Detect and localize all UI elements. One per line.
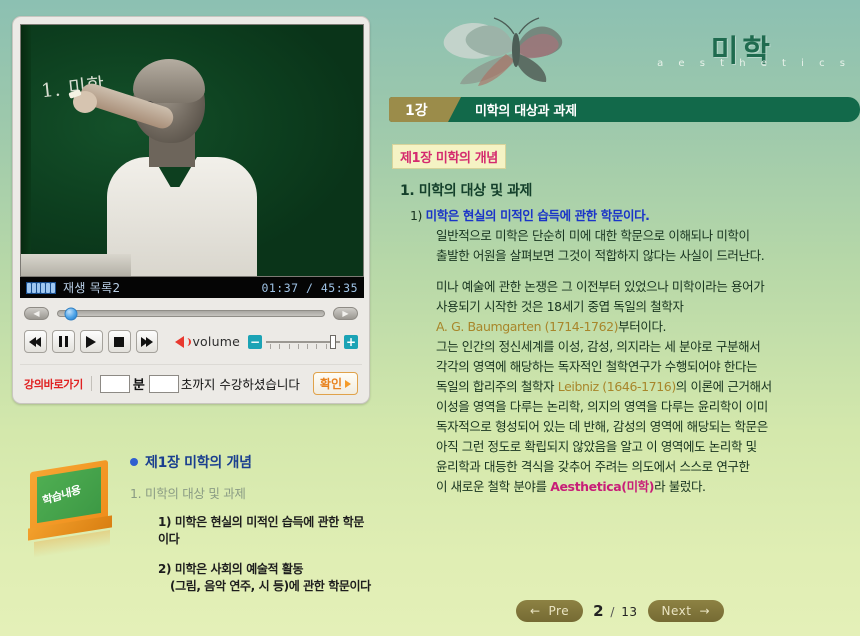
playlist-name: 재생 목록2 — [63, 279, 120, 296]
hero-header: 미학 a e s t h e t i c s — [380, 0, 860, 96]
paragraph4-line4: 윤리학과 대등한 격식을 갖추어 주려는 의도에서 스스로 연구한 — [436, 457, 860, 477]
summary-item-2: 2) 미학은 사회의 예술적 활동 (그림, 음악 연주, 시 등)에 관한 학… — [158, 561, 372, 596]
summary-item-2-cont: (그림, 음악 연주, 시 등)에 관한 학문이다 — [170, 578, 372, 595]
time-total: 45:35 — [321, 281, 358, 295]
next-page-button[interactable]: Next → — [648, 600, 725, 622]
aesthetica-term: Aesthetica(미학) — [550, 479, 654, 494]
arrow-left-icon: ← — [530, 604, 541, 618]
progress-legend: 초까지 수강하셨습니다 — [181, 374, 300, 393]
item-number: 1) — [410, 208, 422, 223]
time-separator: / — [306, 281, 313, 295]
volume-label: volume — [192, 334, 240, 349]
playlist-status-bar: 재생 목록2 01:37 / 45:35 — [20, 277, 364, 298]
learning-content-board-icon: 학습내용 — [24, 460, 122, 555]
summary-title: 제1장 미학의 개념 — [145, 452, 252, 472]
summary-item-1-text: 미학은 현실의 미적인 습득에 관한 학문이다 — [158, 515, 364, 546]
paragraph4-line1: 이성을 영역을 다루는 논리학, 의지의 영역을 다루는 윤리학이 이미 — [436, 397, 860, 417]
page-subtitle: a e s t h e t i c s — [657, 58, 851, 69]
paragraph4-line3: 아직 그런 정도로 확립되지 않았음을 알고 이 영역에도 논리학 및 — [436, 437, 860, 457]
paragraph2-line2: 사용되기 시작한 것은 18세기 중엽 독일의 철학자 — [436, 297, 860, 317]
chalkboard-edge — [21, 25, 31, 276]
baumgarten-name: A. G. Baumgarten (1714-1762) — [436, 319, 618, 334]
seek-thumb[interactable] — [65, 307, 78, 320]
spacer — [410, 266, 860, 277]
baumgarten-line: A. G. Baumgarten (1714-1762)부터이다. — [436, 317, 860, 337]
transport-controls: volume − + — [20, 330, 362, 353]
volume-minus-button[interactable]: − — [248, 335, 262, 349]
player-column: 1. 미학 재생 목록2 01:37 / 45:35 ◀ — [12, 16, 370, 404]
butterfly-icon — [420, 10, 600, 90]
volume-ticks — [270, 344, 336, 349]
lesson-title: 미학의 대상과 과제 — [475, 100, 577, 119]
playback-time: 01:37 / 45:35 — [261, 281, 358, 295]
video-viewport[interactable]: 1. 미학 — [20, 24, 364, 277]
divider — [91, 376, 92, 391]
summary-heading: 제1장 미학의 개념 — [130, 452, 372, 472]
item-heading-line: 1) 미학은 현실의 미적인 습득에 관한 학문이다. — [410, 206, 860, 226]
paragraph2-line1: 미나 예술에 관한 논쟁은 그 이전부터 있었으나 미학이라는 용어가 — [436, 277, 860, 297]
film-strip-icon — [26, 282, 56, 294]
confirm-button-label: 확인 — [320, 375, 342, 392]
final-tail: 라 불렀다. — [654, 479, 706, 494]
total-pages: 13 — [621, 605, 637, 619]
speaker-icon[interactable] — [175, 336, 184, 348]
volume-plus-button[interactable]: + — [344, 335, 358, 349]
volume-slider[interactable] — [266, 335, 340, 349]
summary-item-1: 1) 미학은 현실의 미적인 습득에 관한 학문이다 — [158, 514, 372, 549]
page-separator: / — [610, 605, 615, 619]
final-line: 이 새로운 철학 분야를 Aesthetica(미학)라 불렀다. — [436, 477, 860, 497]
step-forward-icon[interactable]: ▶ — [333, 307, 358, 320]
item-heading: 미학은 현실의 미적인 습득에 관한 학문이다. — [426, 208, 650, 223]
seek-slider[interactable] — [57, 310, 325, 317]
lesson-body: 1) 미학은 현실의 미적인 습득에 관한 학문이다. 일반적으로 미학은 단순… — [410, 206, 860, 497]
progress-form: 강의바로가기 분 초까지 수강하셨습니다 확인 — [20, 364, 362, 397]
time-current: 01:37 — [261, 281, 298, 295]
lecture-shortcut-link[interactable]: 강의바로가기 — [24, 376, 83, 392]
prev-page-button[interactable]: ← Pre — [516, 600, 583, 622]
seek-row: ◀ ▶ — [20, 307, 362, 320]
pause-icon[interactable] — [52, 330, 75, 353]
minutes-input[interactable] — [100, 375, 130, 393]
lesson-number-badge: 1강 — [389, 97, 461, 122]
page-indicator: 2 / 13 — [593, 602, 637, 620]
summary-panel: 학습내용 제1장 미학의 개념 1. 미학의 대상 및 과제 1) 미학은 현실… — [22, 452, 372, 596]
content-column: 미학 a e s t h e t i c s 1강 미학의 대상과 과제 제1장… — [380, 0, 860, 636]
seconds-input[interactable] — [149, 375, 179, 393]
video-player-panel: 1. 미학 재생 목록2 01:37 / 45:35 ◀ — [12, 16, 370, 404]
paragraph1-line2: 출발한 어원을 살펴보면 그것이 적합하지 않다는 사실이 드러난다. — [436, 246, 860, 266]
section-title: 1. 미학의 대상 및 과제 — [400, 180, 532, 200]
bullet-icon — [130, 458, 138, 466]
minutes-unit-label: 분 — [133, 374, 145, 393]
play-icon[interactable] — [80, 330, 103, 353]
rewind-icon[interactable] — [24, 330, 47, 353]
summary-text: 제1장 미학의 개념 1. 미학의 대상 및 과제 1) 미학은 현실의 미적인… — [130, 452, 372, 596]
fast-forward-icon[interactable] — [136, 330, 159, 353]
arrow-right-icon — [345, 380, 351, 388]
step-back-icon[interactable]: ◀ — [24, 307, 49, 320]
volume-track-line — [266, 341, 340, 343]
chapter-chip: 제1장 미학의 개념 — [392, 144, 506, 169]
leibniz-tail: 의 이론에 근거해서 — [676, 379, 772, 394]
leibniz-line: 독일의 합리주의 철학자 Leibniz (1646-1716)의 이론에 근거… — [436, 377, 860, 397]
stop-icon[interactable] — [108, 330, 131, 353]
confirm-button[interactable]: 확인 — [313, 372, 358, 395]
paragraph1-line1: 일반적으로 미학은 단순히 미에 대한 학문으로 이해되나 미학이 — [436, 226, 860, 246]
next-page-label: Next — [662, 604, 692, 618]
desk — [21, 254, 131, 276]
prev-page-label: Pre — [549, 604, 570, 618]
summary-item-2-text: 미학은 사회의 예술적 활동 — [175, 562, 303, 576]
lesson-bar: 1강 미학의 대상과 과제 — [389, 97, 860, 122]
volume-thumb[interactable] — [330, 335, 336, 349]
final-prefix: 이 새로운 철학 분야를 — [436, 479, 550, 494]
pagination: ← Pre 2 / 13 Next → — [380, 600, 860, 622]
leibniz-name: Leibniz (1646-1716) — [558, 379, 676, 394]
paragraph3-line2: 각각의 영역에 해당하는 독자적인 철학연구가 수행되어야 한다는 — [436, 357, 860, 377]
summary-item-2-no: 2) — [158, 562, 171, 576]
arrow-right-icon: → — [699, 604, 710, 618]
paragraph3-line1: 그는 인간의 정신세계를 이성, 감성, 의지라는 세 분야로 구분해서 — [436, 337, 860, 357]
leibniz-prefix: 독일의 합리주의 철학자 — [436, 379, 558, 394]
volume-control: volume − + — [175, 334, 358, 349]
paragraph4-line2: 독자적으로 형성되어 있는 데 반해, 감성의 영역에 해당되는 학문은 — [436, 417, 860, 437]
summary-item-1-no: 1) — [158, 515, 171, 529]
summary-subtitle: 1. 미학의 대상 및 과제 — [130, 483, 372, 502]
baumgarten-tail: 부터이다. — [618, 319, 666, 334]
current-page: 2 — [593, 602, 604, 620]
